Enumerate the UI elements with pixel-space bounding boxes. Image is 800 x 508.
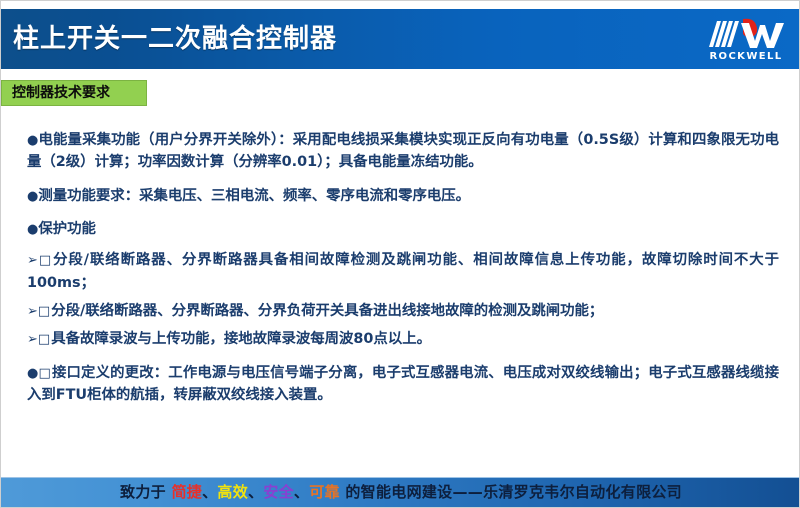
bullet-marker-dot: ● — [27, 366, 39, 381]
bullet-text: 测量功能要求：采集电压、三相电流、频率、零序电流和零序电压。 — [38, 188, 470, 204]
bullet-text: 电能量采集功能（用户分界开关除外）：采用配电线损采集模块实现正反向有功电量（0.… — [27, 132, 779, 170]
footer-separator-1: 、 — [202, 483, 217, 501]
sub-bullet-paragraph: ➢□分段/联络断路器、分界断路器、分界负荷开关具备进出线接地故障的检测及跳闸功能… — [27, 300, 779, 322]
bullet-marker-box: □ — [38, 304, 51, 319]
bullet-marker-arrow: ➢ — [27, 253, 38, 268]
logo-wordmark: ROCKWELL — [709, 52, 782, 62]
footer-prefix: 致力于 — [120, 483, 171, 501]
section-badge: 控制器技术要求 — [1, 80, 147, 106]
bullet-marker-box: □ — [39, 366, 52, 381]
footer-suffix: 的智能电网建设——乐清罗克韦尔自动化有限公司 — [340, 483, 682, 501]
sub-bullet-text: 分段/联络断路器、分界断路器具备相间故障检测及跳闸功能、相间故障信息上传功能，故… — [27, 252, 779, 290]
footer-separator-2: 、 — [248, 483, 263, 501]
content-body: ●电能量采集功能（用户分界开关除外）：采用配电线损采集模块实现正反向有功电量（0… — [27, 129, 779, 417]
bullet-paragraph: ●测量功能要求：采集电压、三相电流、频率、零序电流和零序电压。 — [27, 185, 779, 207]
bullet-marker-dot: ● — [27, 133, 38, 148]
rockwell-w-logo-icon — [707, 17, 785, 51]
sub-bullet-text: 具备故障录波与上传功能，接地故障录波每周波80点以上。 — [51, 331, 431, 347]
bullet-marker-box: □ — [38, 332, 51, 347]
footer-keyword-1: 简捷 — [171, 483, 202, 501]
section-badge-label: 控制器技术要求 — [12, 86, 110, 100]
bullet-marker-box: □ — [38, 253, 53, 268]
footer-bar: 致力于 简捷、高效、安全、可靠 的智能电网建设——乐清罗克韦尔自动化有限公司 — [1, 477, 800, 507]
footer-keyword-2: 高效 — [217, 483, 248, 501]
bullet-marker-dot: ● — [27, 189, 38, 204]
page-title: 柱上开关一二次融合控制器 — [13, 26, 337, 52]
bullet-paragraph: ●□接口定义的更改：工作电源与电压信号端子分离，电子式互感器电流、电压成对双绞线… — [27, 362, 779, 407]
header-bar: 柱上开关一二次融合控制器 — [1, 9, 800, 69]
bullet-marker-arrow: ➢ — [27, 304, 38, 319]
company-logo: ROCKWELL — [705, 13, 787, 65]
sub-bullet-text: 分段/联络断路器、分界断路器、分界负荷开关具备进出线接地故障的检测及跳闸功能； — [51, 303, 603, 319]
sub-bullet-paragraph: ➢□具备故障录波与上传功能，接地故障录波每周波80点以上。 — [27, 328, 779, 350]
bullet-paragraph: ●电能量采集功能（用户分界开关除外）：采用配电线损采集模块实现正反向有功电量（0… — [27, 129, 779, 174]
footer-keyword-4: 可靠 — [309, 483, 340, 501]
bullet-text: 保护功能 — [38, 221, 96, 237]
bullet-text: 接口定义的更改：工作电源与电压信号端子分离，电子式互感器电流、电压成对双绞线输出… — [27, 365, 779, 403]
slide-root: 柱上开关一二次融合控制器 ROCKWELL 控制器技术要求 ●电能量采集功能（用… — [0, 0, 800, 508]
bullet-marker-arrow: ➢ — [27, 332, 38, 347]
footer-keyword-3: 安全 — [263, 483, 294, 501]
footer-slogan: 致力于 简捷、高效、安全、可靠 的智能电网建设——乐清罗克韦尔自动化有限公司 — [120, 485, 682, 500]
sub-bullet-paragraph: ➢□分段/联络断路器、分界断路器具备相间故障检测及跳闸功能、相间故障信息上传功能… — [27, 249, 779, 294]
bullet-paragraph: ●保护功能 — [27, 218, 779, 240]
bullet-marker-dot: ● — [27, 222, 38, 237]
footer-separator-3: 、 — [294, 483, 309, 501]
